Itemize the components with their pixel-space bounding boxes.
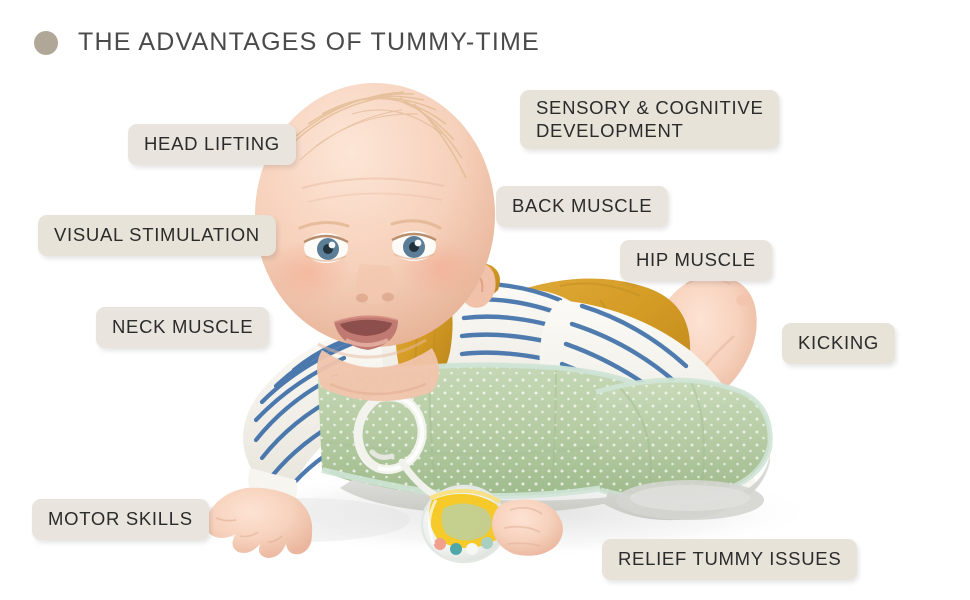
label-back-muscle: BACK MUSCLE xyxy=(496,186,668,227)
label-head-lifting: HEAD LIFTING xyxy=(128,124,296,165)
infographic-canvas: THE ADVANTAGES OF TUMMY-TIME HEAD LIFTIN… xyxy=(0,0,970,600)
label-visual-stimulation: VISUAL STIMULATION xyxy=(38,215,276,256)
label-motor-skills: MOTOR SKILLS xyxy=(32,499,209,540)
label-neck-muscle: NECK MUSCLE xyxy=(96,307,269,348)
page-title: THE ADVANTAGES OF TUMMY-TIME xyxy=(78,28,540,57)
label-kicking: KICKING xyxy=(782,323,895,364)
label-sensory-cognitive: SENSORY & COGNITIVE DEVELOPMENT xyxy=(520,90,779,149)
label-relief-tummy-issues: RELIEF TUMMY ISSUES xyxy=(602,539,857,580)
label-hip-muscle: HIP MUSCLE xyxy=(620,240,772,281)
page-header: THE ADVANTAGES OF TUMMY-TIME xyxy=(34,28,540,57)
bullet-icon xyxy=(34,31,58,55)
